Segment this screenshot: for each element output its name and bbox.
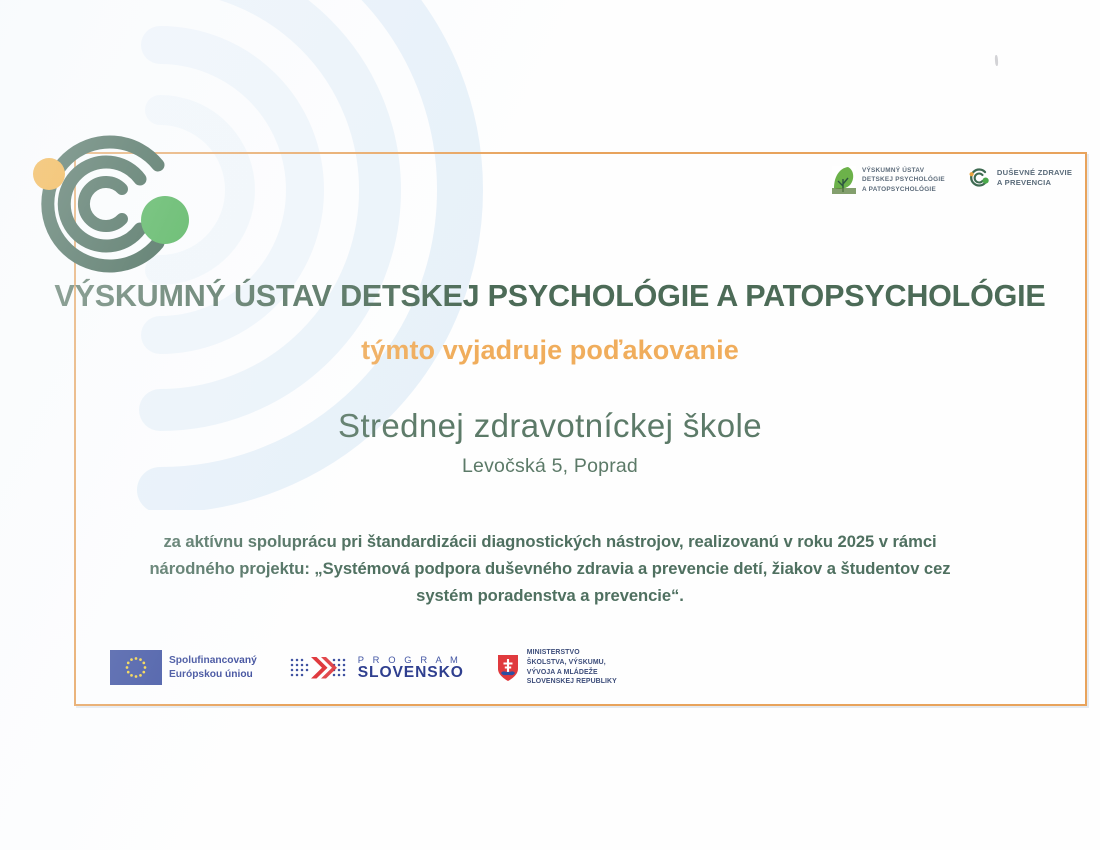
spiral-dot-icon [967,166,991,190]
eu-flag-icon [110,650,162,685]
footer-logo-eu: Spolufinancovaný Európskou úniou [110,650,257,685]
certificate-page: VÝSKUMNÝ ÚSTAV DETSKEJ PSYCHOLÓGIE A PAT… [0,0,1100,850]
ministry-label: MINISTERSTVO ŠKOLSTVA, VÝSKUMU, VÝVOJA A… [527,648,617,687]
page-title: VÝSKUMNÝ ÚSTAV DETSKEJ PSYCHOLÓGIE A PAT… [0,279,1100,314]
partner-vudpap-label: VÝSKUMNÝ ÚSTAV DETSKEJ PSYCHOLÓGIE A PAT… [862,166,945,194]
recipient-name: Strednej zdravotníckej škole [0,407,1100,445]
tree-leaf-icon [832,166,856,194]
partner-dusevne-zdravie-label: DUŠEVNÉ ZDRAVIE A PREVENCIA [997,168,1072,189]
logo-green-dot [141,196,189,244]
logo-orange-dot [33,158,65,190]
dotted-chevron-icon [289,653,351,683]
scan-artifact-speck [995,55,999,66]
recipient-address: Levočská 5, Poprad [0,455,1100,478]
header-partner-logos: VÝSKUMNÝ ÚSTAV DETSKEJ PSYCHOLÓGIE A PAT… [832,166,1072,194]
certificate-body-text: za aktívnu spoluprácu pri štandardizácii… [130,529,970,610]
eu-cofinancing-label: Spolufinancovaný Európskou úniou [169,654,257,682]
footer-logo-program-slovensko: P R O G R A M SLOVENSKO [289,653,464,683]
certificate-subtitle: týmto vyjadruje poďakovanie [0,335,1100,366]
program-slovensko-label-bottom: SLOVENSKO [358,665,464,681]
footer-funding-logos: Spolufinancovaný Európskou úniou P R [110,648,617,687]
program-slovensko-label-top: P R O G R A M [358,655,464,664]
partner-vudpap: VÝSKUMNÝ ÚSTAV DETSKEJ PSYCHOLÓGIE A PAT… [832,166,945,194]
footer-logo-ministry: MINISTERSTVO ŠKOLSTVA, VÝSKUMU, VÝVOJA A… [496,648,617,687]
brand-spiral-logo [18,122,208,282]
slovak-coat-of-arms-icon [496,653,520,683]
partner-dusevne-zdravie: DUŠEVNÉ ZDRAVIE A PREVENCIA [967,166,1072,190]
program-slovensko-label: P R O G R A M SLOVENSKO [358,655,464,681]
